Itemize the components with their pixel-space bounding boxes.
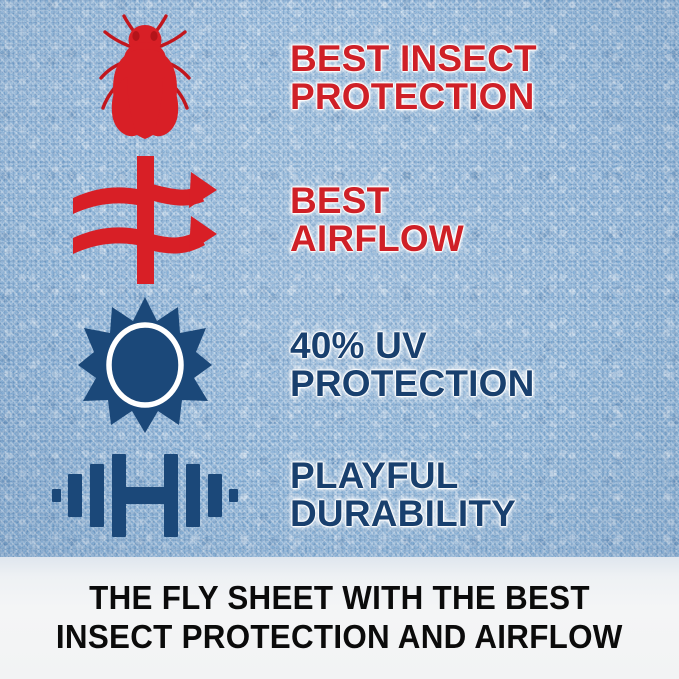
feature-icon-cell	[0, 445, 290, 545]
feature-label-line: PLAYFUL	[290, 457, 679, 495]
feature-label-line: PROTECTION	[290, 78, 679, 116]
feature-text-cell: 40% UV PROTECTION	[290, 327, 679, 402]
fly-icon	[91, 13, 199, 143]
sun-uv-icon	[78, 297, 212, 433]
feature-row-insect-protection: BEST INSECT PROTECTION	[0, 10, 679, 145]
feature-label-line: DURABILITY	[290, 495, 679, 533]
feature-row-airflow: BEST AIRFLOW	[0, 152, 679, 287]
product-feature-infographic: BEST INSECT PROTECTION	[0, 0, 679, 679]
feature-label-line: BEST INSECT	[290, 40, 679, 78]
feature-label-line: 40% UV	[290, 327, 679, 365]
feature-label-line: BEST	[290, 182, 679, 220]
feature-icon-cell	[0, 13, 290, 143]
feature-icon-cell	[0, 297, 290, 433]
feature-row-uv-protection: 40% UV PROTECTION	[0, 292, 679, 437]
feature-label-line: PROTECTION	[290, 365, 679, 403]
caption-band: THE FLY SHEET WITH THE BEST INSECT PROTE…	[0, 557, 679, 679]
caption-line-2: INSECT PROTECTION AND AIRFLOW	[56, 618, 623, 657]
feature-list: BEST INSECT PROTECTION	[0, 0, 679, 557]
feature-label-line: AIRFLOW	[290, 220, 679, 258]
airflow-icon	[65, 156, 225, 284]
feature-text-cell: PLAYFUL DURABILITY	[290, 457, 679, 532]
dumbbell-icon	[52, 445, 238, 545]
feature-icon-cell	[0, 156, 290, 284]
feature-row-durability: PLAYFUL DURABILITY	[0, 436, 679, 554]
feature-text-cell: BEST INSECT PROTECTION	[290, 40, 679, 115]
feature-text-cell: BEST AIRFLOW	[290, 182, 679, 257]
caption-line-1: THE FLY SHEET WITH THE BEST	[89, 579, 590, 618]
